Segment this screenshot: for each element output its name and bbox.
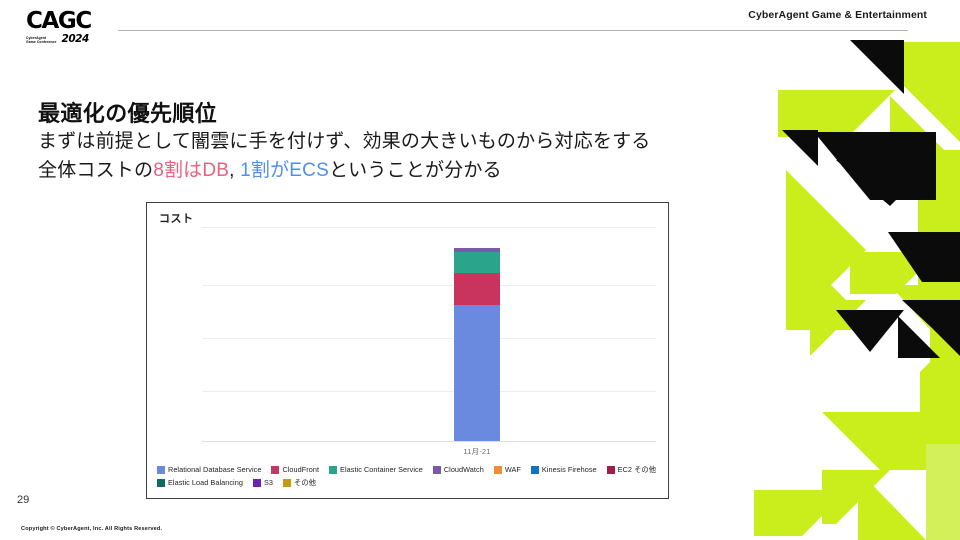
copyright-notice: Copyright © CyberAgent, Inc. All Rights … bbox=[21, 526, 162, 532]
gridline bbox=[202, 227, 656, 228]
page-number: 29 bbox=[17, 494, 29, 506]
legend-label: CloudFront bbox=[282, 465, 319, 475]
header-divider bbox=[118, 30, 908, 31]
legend-label: Relational Database Service bbox=[168, 465, 261, 475]
decorative-geometric-graphic bbox=[740, 0, 960, 540]
gridline bbox=[202, 391, 656, 392]
gridline bbox=[202, 338, 656, 339]
legend-swatch-icon bbox=[329, 466, 337, 474]
cagc-logo-tagline: CyberAgent Game Conference 2024 bbox=[26, 34, 122, 44]
legend-item[interactable]: Elastic Load Balancing bbox=[157, 478, 243, 488]
legend-item[interactable]: Kinesis Firehose bbox=[531, 465, 597, 475]
legend-item[interactable]: その他 bbox=[283, 478, 316, 488]
x-axis-tick-label: 11月-21 bbox=[434, 446, 520, 457]
legend-item[interactable]: Relational Database Service bbox=[157, 465, 261, 475]
bar-segment[interactable] bbox=[454, 273, 500, 305]
body-line2-prefix: 全体コストの bbox=[38, 160, 153, 181]
legend-swatch-icon bbox=[271, 466, 279, 474]
body-line2-suffix: ということが分かる bbox=[329, 160, 502, 181]
legend-swatch-icon bbox=[157, 479, 165, 487]
legend-label: WAF bbox=[505, 465, 521, 475]
cagc-logo-wordmark: CAGC bbox=[26, 10, 122, 33]
bar-segment[interactable] bbox=[454, 252, 500, 274]
legend-label: Kinesis Firehose bbox=[542, 465, 597, 475]
deco-black-shapes bbox=[782, 40, 960, 358]
legend-swatch-icon bbox=[433, 466, 441, 474]
legend-label: EC2 その他 bbox=[618, 465, 656, 475]
legend-label: Elastic Container Service bbox=[340, 465, 423, 475]
legend-item[interactable]: CloudWatch bbox=[433, 465, 484, 475]
legend-label: Elastic Load Balancing bbox=[168, 478, 243, 488]
page-title: 最適化の優先順位 bbox=[38, 96, 217, 128]
gridline bbox=[202, 285, 656, 286]
legend-label: その他 bbox=[294, 478, 316, 488]
legend-item[interactable]: WAF bbox=[494, 465, 521, 475]
cost-chart-card: コスト 11月-21 Relational Database ServiceCl… bbox=[146, 202, 669, 499]
axis-baseline bbox=[202, 441, 656, 442]
stacked-bar[interactable] bbox=[454, 248, 500, 441]
legend-swatch-icon bbox=[253, 479, 261, 487]
slide-body-line-2: 全体コストの8割はDB, 1割がECSということが分かる bbox=[38, 156, 651, 185]
legend-item[interactable]: CloudFront bbox=[271, 465, 319, 475]
legend-item[interactable]: Elastic Container Service bbox=[329, 465, 423, 475]
chart-legend: Relational Database ServiceCloudFrontEla… bbox=[157, 465, 660, 488]
body-line2-highlight-db: 8割はDB bbox=[153, 160, 229, 181]
legend-swatch-icon bbox=[283, 479, 291, 487]
cagc-logo: CAGC CyberAgent Game Conference 2024 bbox=[26, 10, 122, 46]
legend-swatch-icon bbox=[607, 466, 615, 474]
body-line2-highlight-ecs: 1割がECS bbox=[240, 160, 329, 181]
slide-body-line-1: まずは前提として闇雲に手を付けず、効果の大きいものから対応をする bbox=[38, 127, 651, 156]
legend-swatch-icon bbox=[531, 466, 539, 474]
legend-swatch-icon bbox=[157, 466, 165, 474]
legend-item[interactable]: EC2 その他 bbox=[607, 465, 656, 475]
legend-label: CloudWatch bbox=[444, 465, 484, 475]
cagc-logo-year: 2024 bbox=[62, 34, 89, 44]
header-brand-label: CyberAgent Game & Entertainment bbox=[748, 9, 927, 21]
body-line2-separator: , bbox=[229, 160, 240, 181]
legend-label: S3 bbox=[264, 478, 273, 488]
bar-segment[interactable] bbox=[454, 305, 500, 441]
legend-item[interactable]: S3 bbox=[253, 478, 273, 488]
chart-title: コスト bbox=[159, 210, 194, 226]
slide-header: CAGC CyberAgent Game Conference 2024 Cyb… bbox=[0, 0, 960, 40]
chart-plot-area bbox=[202, 227, 656, 442]
legend-swatch-icon bbox=[494, 466, 502, 474]
cagc-logo-tagline-line2: Game Conference bbox=[26, 40, 57, 44]
slide-body-text: まずは前提として闇雲に手を付けず、効果の大きいものから対応をする 全体コストの8… bbox=[38, 127, 651, 185]
deco-green-shapes bbox=[754, 42, 960, 540]
